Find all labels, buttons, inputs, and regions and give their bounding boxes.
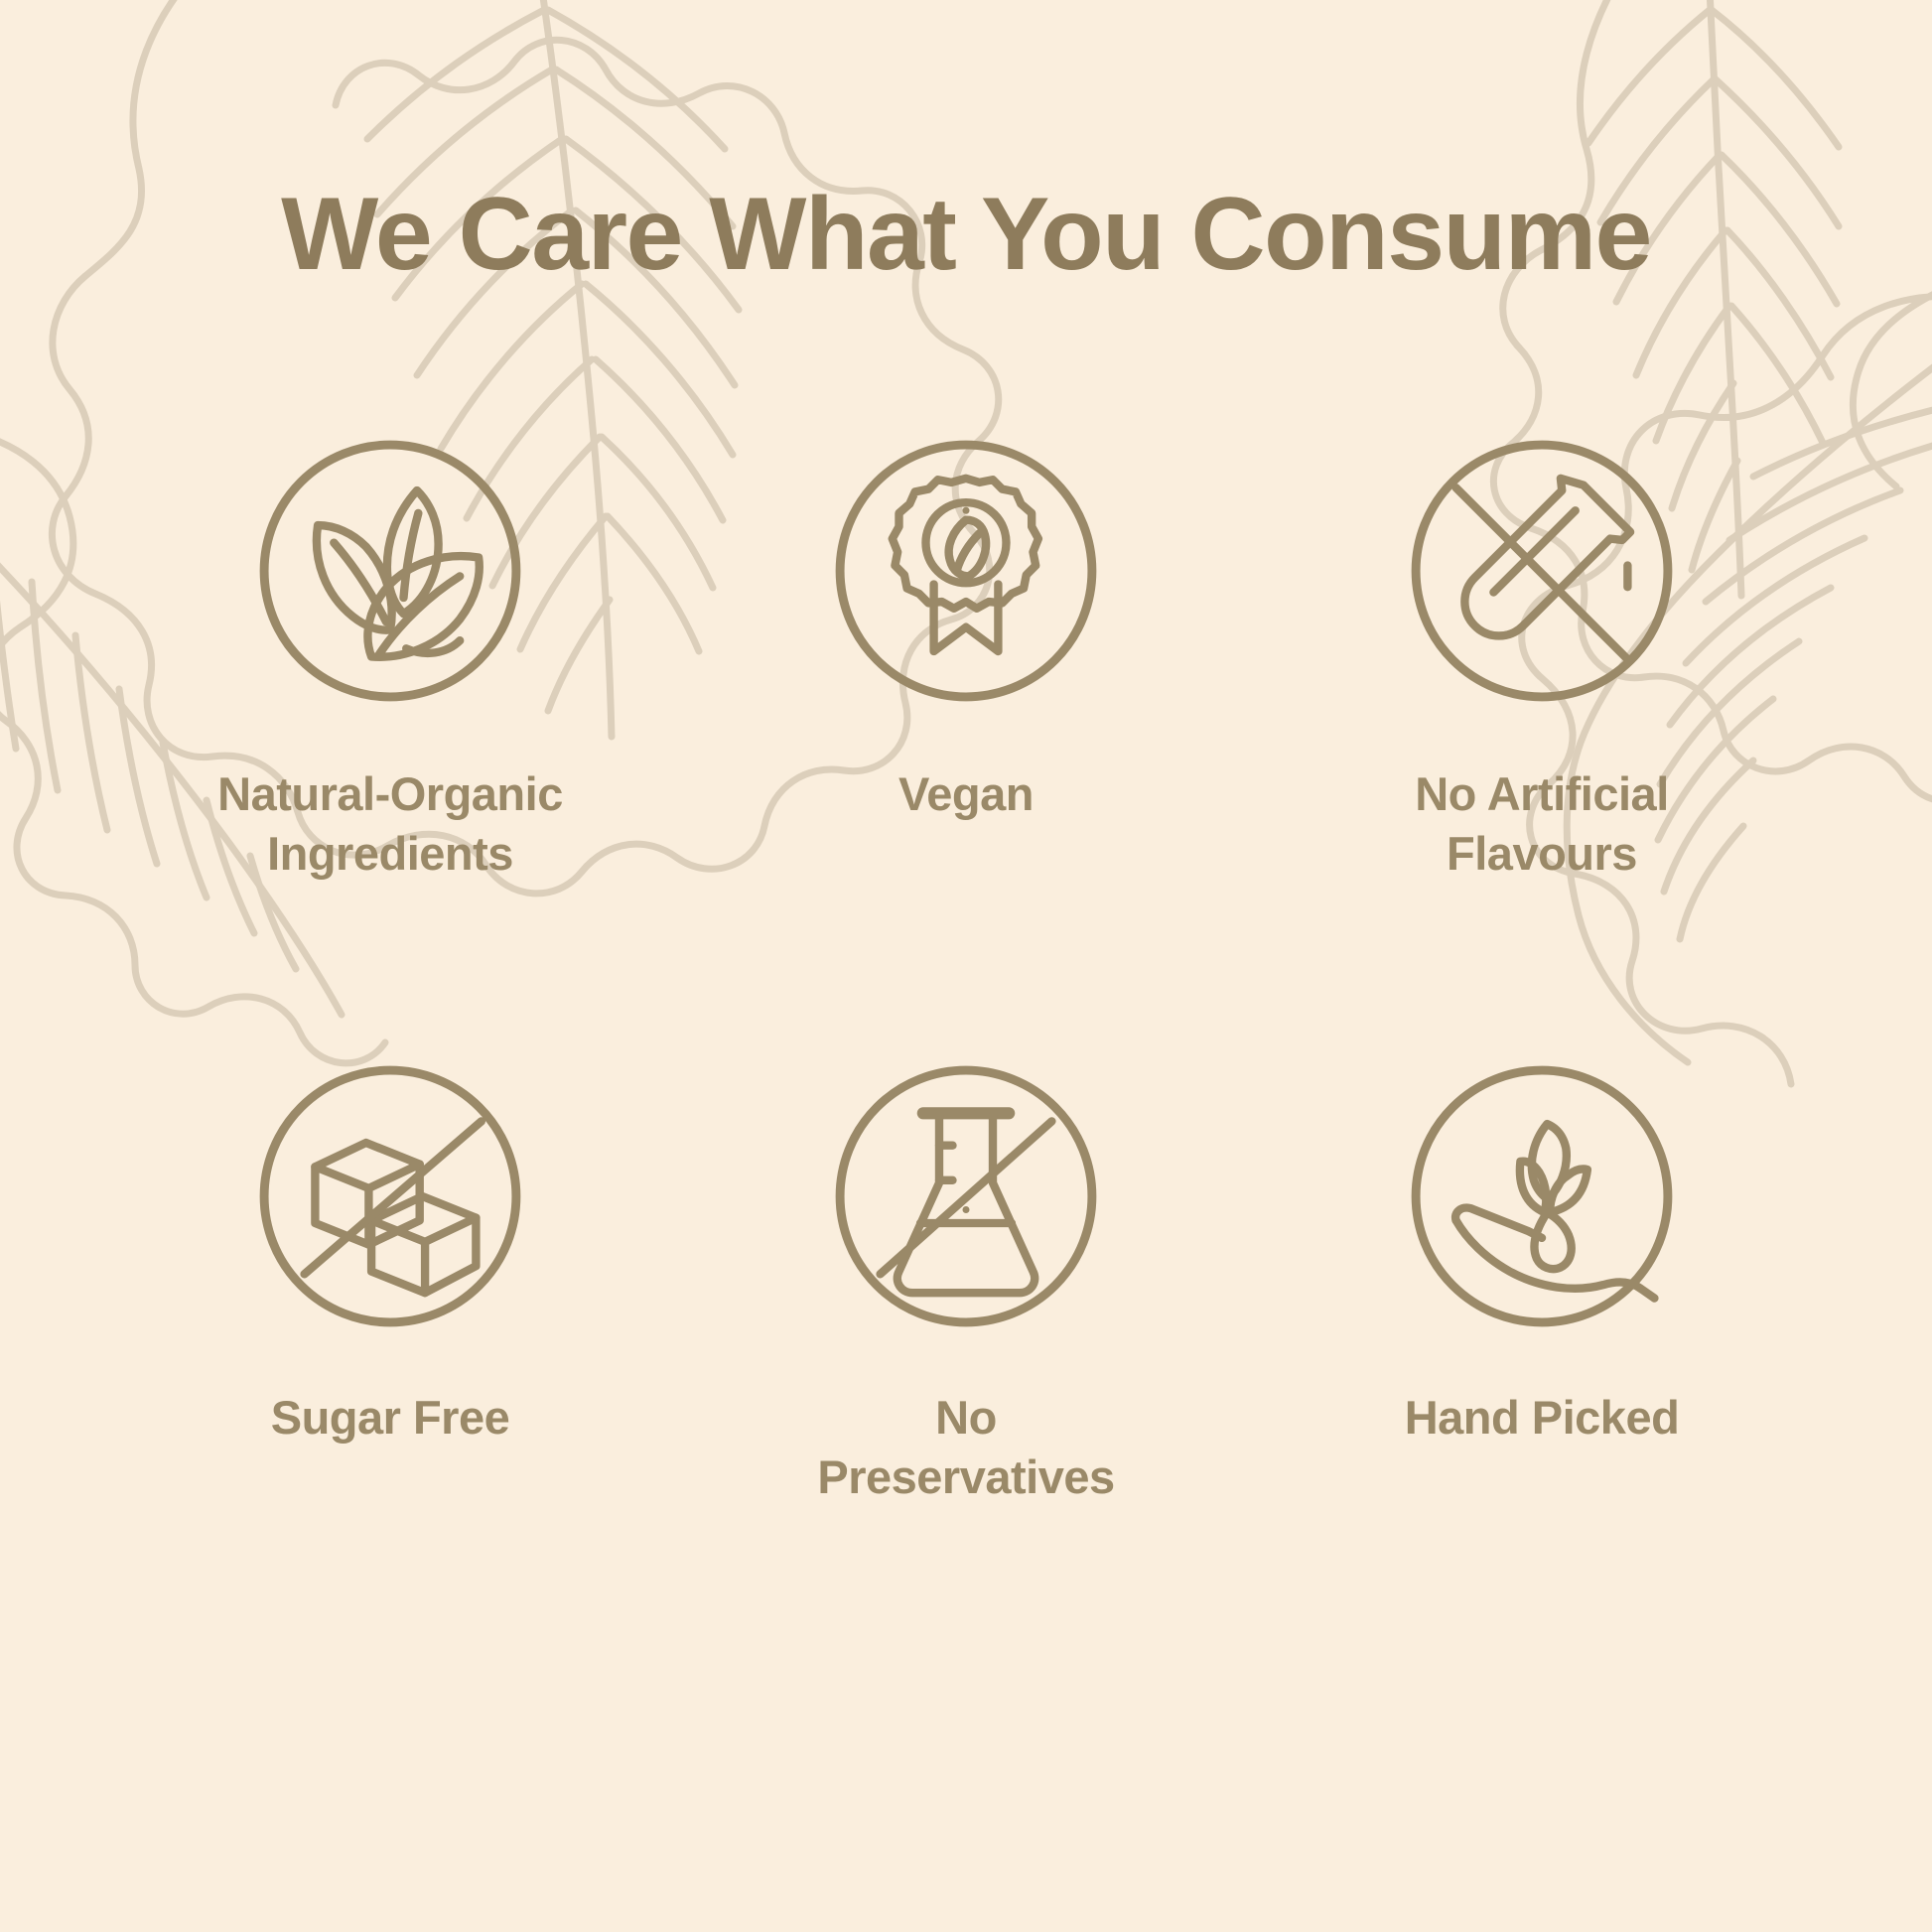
- feature-label: No Preservatives: [817, 1388, 1114, 1507]
- feature-item-vegan[interactable]: Vegan: [678, 437, 1254, 1062]
- feature-grid: Natural-Organic Ingredients: [102, 437, 1830, 1688]
- feature-item-sugar-free[interactable]: Sugar Free: [102, 1062, 678, 1688]
- award-rosette-leaf-icon: [832, 437, 1100, 705]
- no-sugar-cubes-icon: [256, 1062, 524, 1330]
- feature-label-line2: Flavours: [1415, 824, 1669, 884]
- feature-label-line1: Hand Picked: [1405, 1388, 1680, 1448]
- feature-label: Natural-Organic Ingredients: [217, 764, 563, 884]
- feature-label-line1: Natural-Organic: [217, 764, 563, 824]
- feature-item-natural-organic[interactable]: Natural-Organic Ingredients: [102, 437, 678, 1062]
- feature-label-line2: Ingredients: [217, 824, 563, 884]
- feature-label: Vegan: [898, 764, 1034, 824]
- feature-label-line1: Sugar Free: [271, 1388, 510, 1448]
- feature-label: Hand Picked: [1405, 1388, 1680, 1448]
- feature-item-no-artificial-flavours[interactable]: No Artificial Flavours: [1254, 437, 1830, 1062]
- feature-label-line1: No: [817, 1388, 1114, 1448]
- page-title: We Care What You Consume: [0, 181, 1932, 289]
- feature-label-line2: Preservatives: [817, 1448, 1114, 1507]
- feature-label: Sugar Free: [271, 1388, 510, 1448]
- feature-label-line1: Vegan: [898, 764, 1034, 824]
- poster-canvas: We Care What You Consume: [0, 0, 1932, 1932]
- no-test-tube-icon: [1408, 437, 1676, 705]
- feature-label: No Artificial Flavours: [1415, 764, 1669, 884]
- no-flask-icon: [832, 1062, 1100, 1330]
- feature-label-line1: No Artificial: [1415, 764, 1669, 824]
- hand-sprout-icon: [1408, 1062, 1676, 1330]
- feature-item-no-preservatives[interactable]: No Preservatives: [678, 1062, 1254, 1688]
- leaves-icon: [256, 437, 524, 705]
- feature-item-hand-picked[interactable]: Hand Picked: [1254, 1062, 1830, 1688]
